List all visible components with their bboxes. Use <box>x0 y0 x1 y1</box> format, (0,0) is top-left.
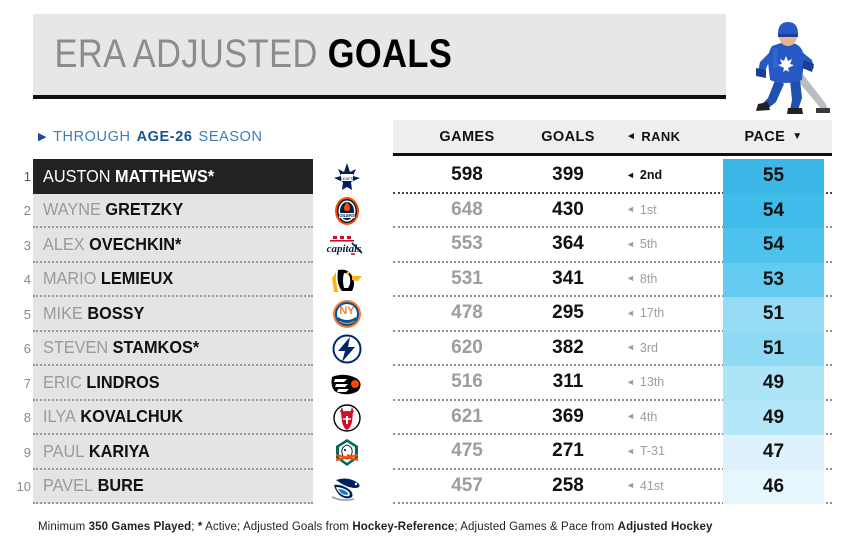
player-first-name: ALEX <box>43 234 85 254</box>
player-name-cell[interactable]: ALEX OVECHKIN* <box>33 228 313 263</box>
player-stats-row: 475271◄T-3147 <box>393 435 832 470</box>
player-first-name: ERIC <box>43 372 82 392</box>
sort-descending-icon: ▼ <box>792 132 802 142</box>
player-name-cell[interactable]: AUSTON MATTHEWS* <box>33 159 313 194</box>
cell-rank-value: 41st <box>640 479 664 493</box>
column-header-goals[interactable]: GOALS <box>523 120 613 153</box>
player-last-name: MATTHEWS* <box>115 166 214 186</box>
cell-games: 475 <box>422 435 512 468</box>
column-header-games[interactable]: GAMES <box>422 120 512 153</box>
cell-games: 621 <box>422 401 512 434</box>
player-stats-row: 648430◄1st54 <box>393 194 832 229</box>
player-name-cell[interactable]: ILYA KOVALCHUK <box>33 401 313 436</box>
player-first-name: ILYA <box>43 406 76 426</box>
team-logo-washington-capitals-icon: capitals <box>322 229 372 262</box>
player-name-cell[interactable]: PAVEL BURE <box>33 470 313 505</box>
player-last-name: LINDROS <box>86 372 159 392</box>
cell-pace: 47 <box>723 435 824 470</box>
player-name-cell[interactable]: PAUL KARIYA <box>33 435 313 470</box>
cell-rank-value: 1st <box>640 203 657 217</box>
cell-games: 478 <box>422 297 512 330</box>
player-last-name: OVECHKIN* <box>89 234 181 254</box>
cell-games: 531 <box>422 263 512 296</box>
caret-left-icon: ◄ <box>626 447 635 456</box>
player-name: PAUL KARIYA <box>43 441 150 462</box>
footnote-b4: Adjusted Hockey <box>618 521 713 533</box>
footnote-p4: ; Adjusted Games & Pace from <box>454 521 617 533</box>
column-header-games-label: GAMES <box>439 129 494 145</box>
cell-goals: 311 <box>523 366 613 399</box>
table-row[interactable]: 8ILYA KOVALCHUK 621369◄4th49 <box>0 401 847 436</box>
cell-pace: 54 <box>723 194 824 229</box>
cell-rank-value: 2nd <box>640 168 662 182</box>
title-bold-part: GOALS <box>328 32 452 76</box>
cell-goals: 369 <box>523 401 613 434</box>
team-logo-toronto-maple-leafs-icon: LEAFS <box>322 160 372 193</box>
cell-pace: 54 <box>723 228 824 263</box>
row-rank-number: 9 <box>5 435 31 470</box>
player-last-name: GRETZKY <box>105 199 183 219</box>
cell-rank-value: T-31 <box>640 444 665 458</box>
player-stats-row: 621369◄4th49 <box>393 401 832 436</box>
cell-rank: ◄8th <box>626 263 721 296</box>
cell-rank: ◄41st <box>626 470 721 503</box>
row-rank-number: 8 <box>5 401 31 436</box>
player-last-name: KOVALCHUK <box>80 406 183 426</box>
table-row[interactable]: 5MIKE BOSSY NY 478295◄17th51 <box>0 297 847 332</box>
player-name: ERIC LINDROS <box>43 372 160 393</box>
row-rank-number: 10 <box>5 470 31 505</box>
cell-goals: 341 <box>523 263 613 296</box>
cell-goals: 364 <box>523 228 613 261</box>
column-header-goals-label: GOALS <box>541 129 595 145</box>
team-logo-edmonton-oilers-icon: OILERS <box>322 195 372 228</box>
triangle-right-icon: ▶ <box>38 132 47 143</box>
player-name-cell[interactable]: ERIC LINDROS <box>33 366 313 401</box>
caret-left-icon: ◄ <box>626 309 635 318</box>
player-name-cell[interactable]: MARIO LEMIEUX <box>33 263 313 298</box>
cell-goals: 271 <box>523 435 613 468</box>
cell-rank-value: 4th <box>640 410 657 424</box>
cell-rank: ◄T-31 <box>626 435 721 468</box>
cell-goals: 430 <box>523 194 613 227</box>
row-rank-number: 5 <box>5 297 31 332</box>
player-first-name: WAYNE <box>43 199 101 219</box>
footnote-p1: Minimum <box>38 521 89 533</box>
cell-rank: ◄4th <box>626 401 721 434</box>
player-first-name: PAVEL <box>43 475 93 495</box>
player-first-name: MIKE <box>43 303 83 323</box>
leaderboard-rows: 1AUSTON MATTHEWS* LEAFS 598399◄2nd552WAY… <box>0 159 847 504</box>
caret-left-icon: ◄ <box>626 378 635 387</box>
cell-pace: 55 <box>723 159 824 194</box>
player-last-name: LEMIEUX <box>101 268 173 288</box>
cell-pace: 53 <box>723 263 824 298</box>
cell-goals: 382 <box>523 332 613 365</box>
player-stats-row: 598399◄2nd55 <box>393 159 832 194</box>
caret-left-icon: ◄ <box>626 132 636 142</box>
subtitle-post: SEASON <box>199 129 263 145</box>
player-stats-row: 516311◄13th49 <box>393 366 832 401</box>
player-name: MARIO LEMIEUX <box>43 268 173 289</box>
caret-left-icon: ◄ <box>626 343 635 352</box>
cell-rank-value: 5th <box>640 237 657 251</box>
table-row[interactable]: 9PAUL KARIYA 475271◄T-3147 <box>0 435 847 470</box>
player-name-cell[interactable]: MIKE BOSSY <box>33 297 313 332</box>
team-logo-anaheim-mighty-ducks-icon <box>322 436 372 469</box>
player-last-name: KARIYA <box>89 441 150 461</box>
player-first-name: PAUL <box>43 441 84 461</box>
caret-left-icon: ◄ <box>626 171 635 180</box>
row-rank-number: 7 <box>5 366 31 401</box>
table-row[interactable]: 1AUSTON MATTHEWS* LEAFS 598399◄2nd55 <box>0 159 847 194</box>
player-name: ILYA KOVALCHUK <box>43 406 183 427</box>
player-stats-row: 620382◄3rd51 <box>393 332 832 367</box>
table-row[interactable]: 7ERIC LINDROS 516311◄13th49 <box>0 366 847 401</box>
cell-pace: 49 <box>723 401 824 436</box>
page-title: ERA ADJUSTED GOALS <box>33 32 452 77</box>
hockey-player-photo <box>742 16 832 118</box>
title-banner: ERA ADJUSTED GOALS <box>33 14 726 99</box>
table-row[interactable]: 10PAVEL BURE 457258◄41st46 <box>0 470 847 505</box>
cell-pace: 51 <box>723 332 824 367</box>
player-name: WAYNE GRETZKY <box>43 199 183 220</box>
player-name: STEVEN STAMKOS* <box>43 337 199 358</box>
row-rank-number: 4 <box>5 263 31 298</box>
player-name: PAVEL BURE <box>43 475 144 496</box>
cell-goals: 399 <box>523 159 613 192</box>
cell-rank: ◄3rd <box>626 332 721 365</box>
cell-goals: 258 <box>523 470 613 503</box>
column-header-rank-label: RANK <box>641 129 680 144</box>
footnote-b1: 350 Games Played <box>89 521 192 533</box>
player-name: ALEX OVECHKIN* <box>43 234 181 255</box>
footnote-b3: Hockey-Reference <box>352 521 454 533</box>
cell-rank: ◄17th <box>626 297 721 330</box>
player-name-cell[interactable]: WAYNE GRETZKY <box>33 194 313 229</box>
column-header-pace-label: PACE <box>744 129 785 145</box>
caret-left-icon: ◄ <box>626 205 635 214</box>
cell-games: 648 <box>422 194 512 227</box>
cell-games: 553 <box>422 228 512 261</box>
subtitle-highlight: AGE-26 <box>137 129 193 145</box>
player-stats-row: 478295◄17th51 <box>393 297 832 332</box>
cell-rank-value: 8th <box>640 272 657 286</box>
player-first-name: AUSTON <box>43 166 111 186</box>
column-header-pace[interactable]: PACE ▼ <box>723 120 824 153</box>
row-rank-number: 3 <box>5 228 31 263</box>
column-header-rank[interactable]: ◄ RANK <box>626 120 721 153</box>
cell-rank-value: 17th <box>640 306 664 320</box>
caret-left-icon: ◄ <box>626 274 635 283</box>
cell-games: 516 <box>422 366 512 399</box>
team-logo-new-jersey-devils-icon <box>322 402 372 435</box>
team-logo-new-york-islanders-icon: NY <box>322 298 372 331</box>
cell-rank-value: 13th <box>640 375 664 389</box>
player-name: MIKE BOSSY <box>43 303 144 324</box>
player-stats-row: 457258◄41st46 <box>393 470 832 505</box>
footnote-p2: ; <box>191 521 198 533</box>
team-logo-pittsburgh-penguins-icon <box>322 264 372 297</box>
player-first-name: MARIO <box>43 268 96 288</box>
cell-pace: 49 <box>723 366 824 401</box>
table-row[interactable]: 6STEVEN STAMKOS* 620382◄3rd51 <box>0 332 847 367</box>
caret-left-icon: ◄ <box>626 481 635 490</box>
row-rank-number: 2 <box>5 194 31 229</box>
player-last-name: BURE <box>98 475 144 495</box>
cell-rank-value: 3rd <box>640 341 658 355</box>
cell-games: 620 <box>422 332 512 365</box>
player-stats-row: 553364◄5th54 <box>393 228 832 263</box>
caret-left-icon: ◄ <box>626 412 635 421</box>
player-name-cell[interactable]: STEVEN STAMKOS* <box>33 332 313 367</box>
cell-pace: 51 <box>723 297 824 332</box>
player-last-name: STAMKOS* <box>113 337 200 357</box>
cell-rank: ◄2nd <box>626 159 721 192</box>
footnote: Minimum 350 Games Played; * Active; Adju… <box>38 521 712 533</box>
cell-games: 457 <box>422 470 512 503</box>
player-stats-row: 531341◄8th53 <box>393 263 832 298</box>
row-rank-number: 6 <box>5 332 31 367</box>
svg-text:NY: NY <box>339 305 355 317</box>
player-first-name: STEVEN <box>43 337 108 357</box>
player-name: AUSTON MATTHEWS* <box>43 166 214 187</box>
subtitle-through-age[interactable]: ▶ THROUGH AGE-26 SEASON <box>38 129 263 145</box>
svg-text:LEAFS: LEAFS <box>341 176 354 181</box>
cell-rank: ◄1st <box>626 194 721 227</box>
table-row[interactable]: 3ALEX OVECHKIN* capitals 553364◄5th54 <box>0 228 847 263</box>
footnote-p3: Active; Adjusted Goals from <box>202 521 352 533</box>
table-row[interactable]: 2WAYNE GRETZKY OILERS 648430◄1st54 <box>0 194 847 229</box>
svg-text:OILERS: OILERS <box>339 213 355 218</box>
player-last-name: BOSSY <box>87 303 144 323</box>
title-light-part: ERA ADJUSTED <box>55 32 318 76</box>
team-logo-tampa-bay-lightning-icon <box>322 333 372 366</box>
table-row[interactable]: 4MARIO LEMIEUX 531341◄8th53 <box>0 263 847 298</box>
subtitle-pre: THROUGH <box>53 129 131 145</box>
cell-goals: 295 <box>523 297 613 330</box>
cell-rank: ◄13th <box>626 366 721 399</box>
svg-text:capitals: capitals <box>327 243 362 255</box>
team-logo-philadelphia-flyers-icon <box>322 367 372 400</box>
cell-rank: ◄5th <box>626 228 721 261</box>
team-logo-vancouver-canucks-icon <box>322 471 372 504</box>
cell-pace: 46 <box>723 470 824 505</box>
column-header-row: GAMES GOALS ◄ RANK PACE ▼ <box>393 120 832 156</box>
cell-games: 598 <box>422 159 512 192</box>
caret-left-icon: ◄ <box>626 240 635 249</box>
row-rank-number: 1 <box>5 159 31 194</box>
